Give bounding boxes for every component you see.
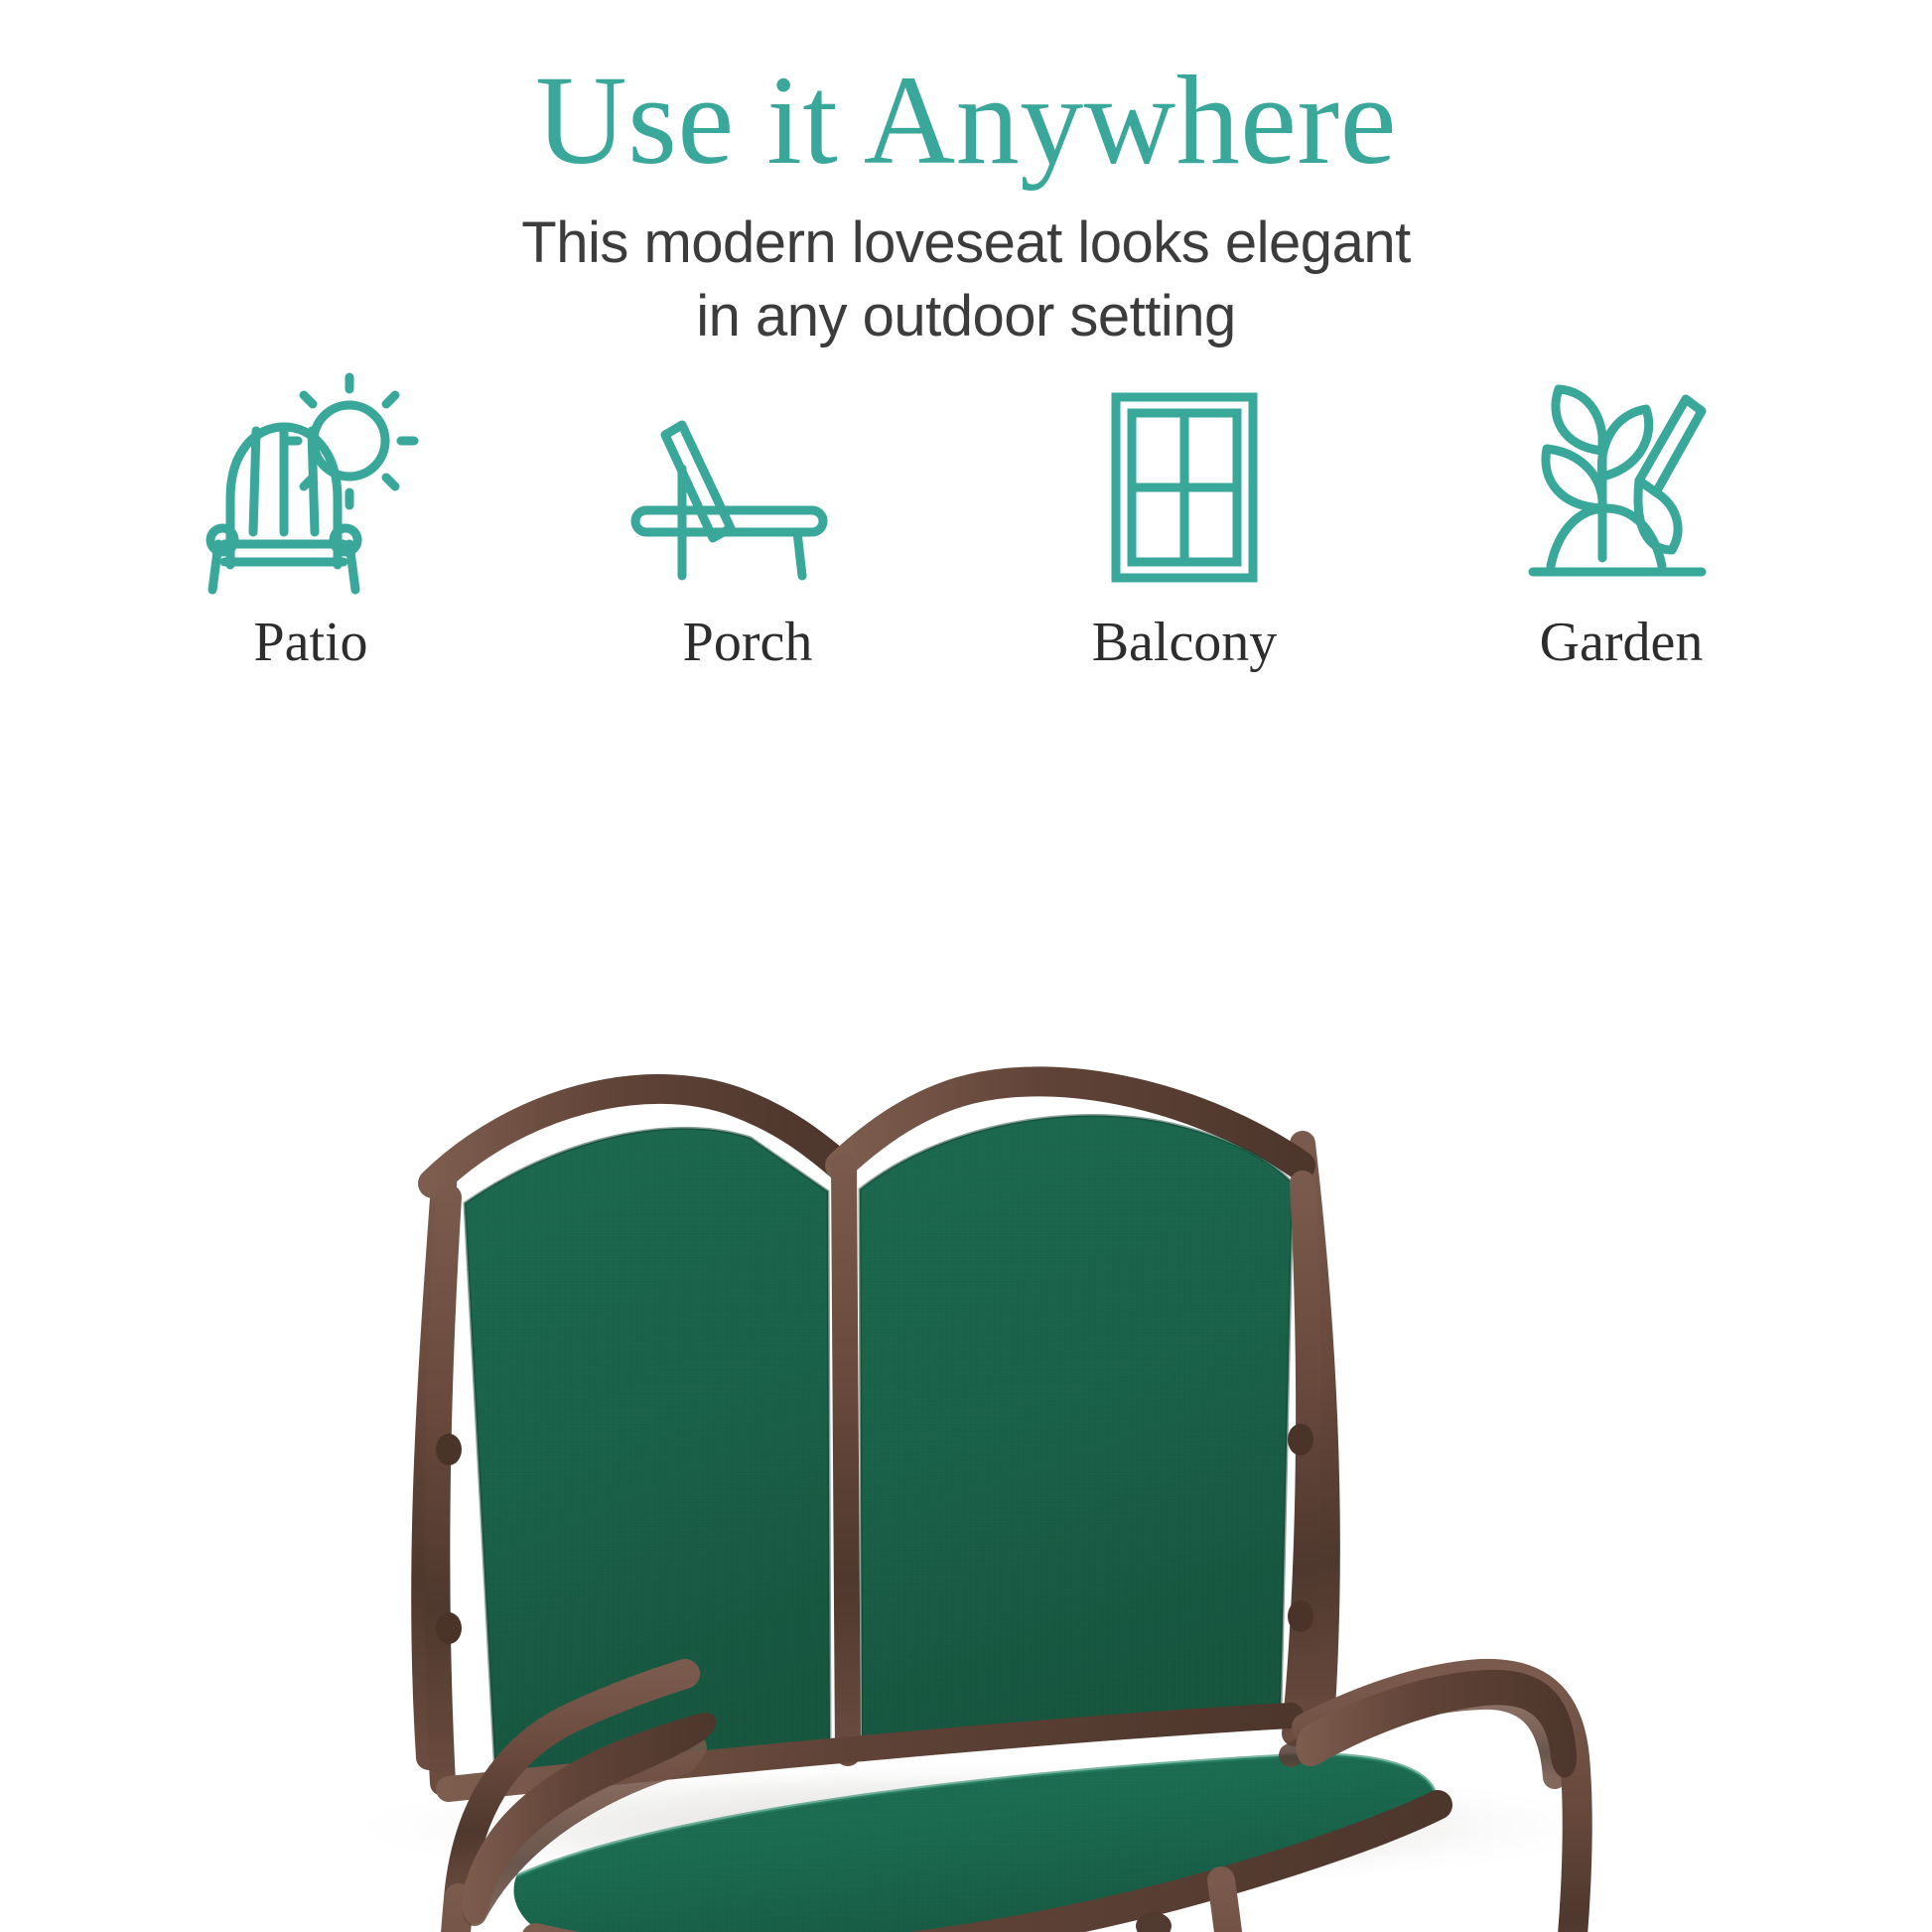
subtitle-line-1: This modern loveseat looks elegant: [420, 207, 1512, 280]
window-icon: [1070, 381, 1299, 595]
subtitle: This modern loveseat looks elegant in an…: [420, 207, 1512, 353]
feature-item-balcony: Balcony: [966, 381, 1403, 670]
backrest-left-post: [437, 1197, 449, 1783]
feature-item-garden: Garden: [1403, 381, 1840, 670]
adirondack-chair-sun-icon: [197, 381, 425, 595]
feature-list: Patio Porch: [92, 381, 1840, 670]
page-title: Use it Anywhere: [0, 54, 1932, 189]
subtitle-line-2: in any outdoor setting: [420, 280, 1512, 353]
chaise-lounge-icon: [633, 381, 862, 595]
feature-label-porch: Porch: [683, 615, 813, 670]
back-panel-right: [860, 1115, 1293, 1743]
product-image-glider-loveseat: [0, 755, 1932, 1932]
feature-label-garden: Garden: [1540, 615, 1704, 670]
feature-label-balcony: Balcony: [1092, 615, 1278, 670]
backrest-center-post: [844, 1166, 848, 1753]
backrest-right-post: [1295, 1183, 1309, 1733]
header-block: Use it Anywhere This modern loveseat loo…: [0, 0, 1932, 353]
feature-item-porch: Porch: [529, 381, 966, 670]
feature-label-patio: Patio: [253, 615, 367, 670]
feature-item-patio: Patio: [92, 381, 529, 670]
plant-trowel-icon: [1507, 381, 1735, 595]
